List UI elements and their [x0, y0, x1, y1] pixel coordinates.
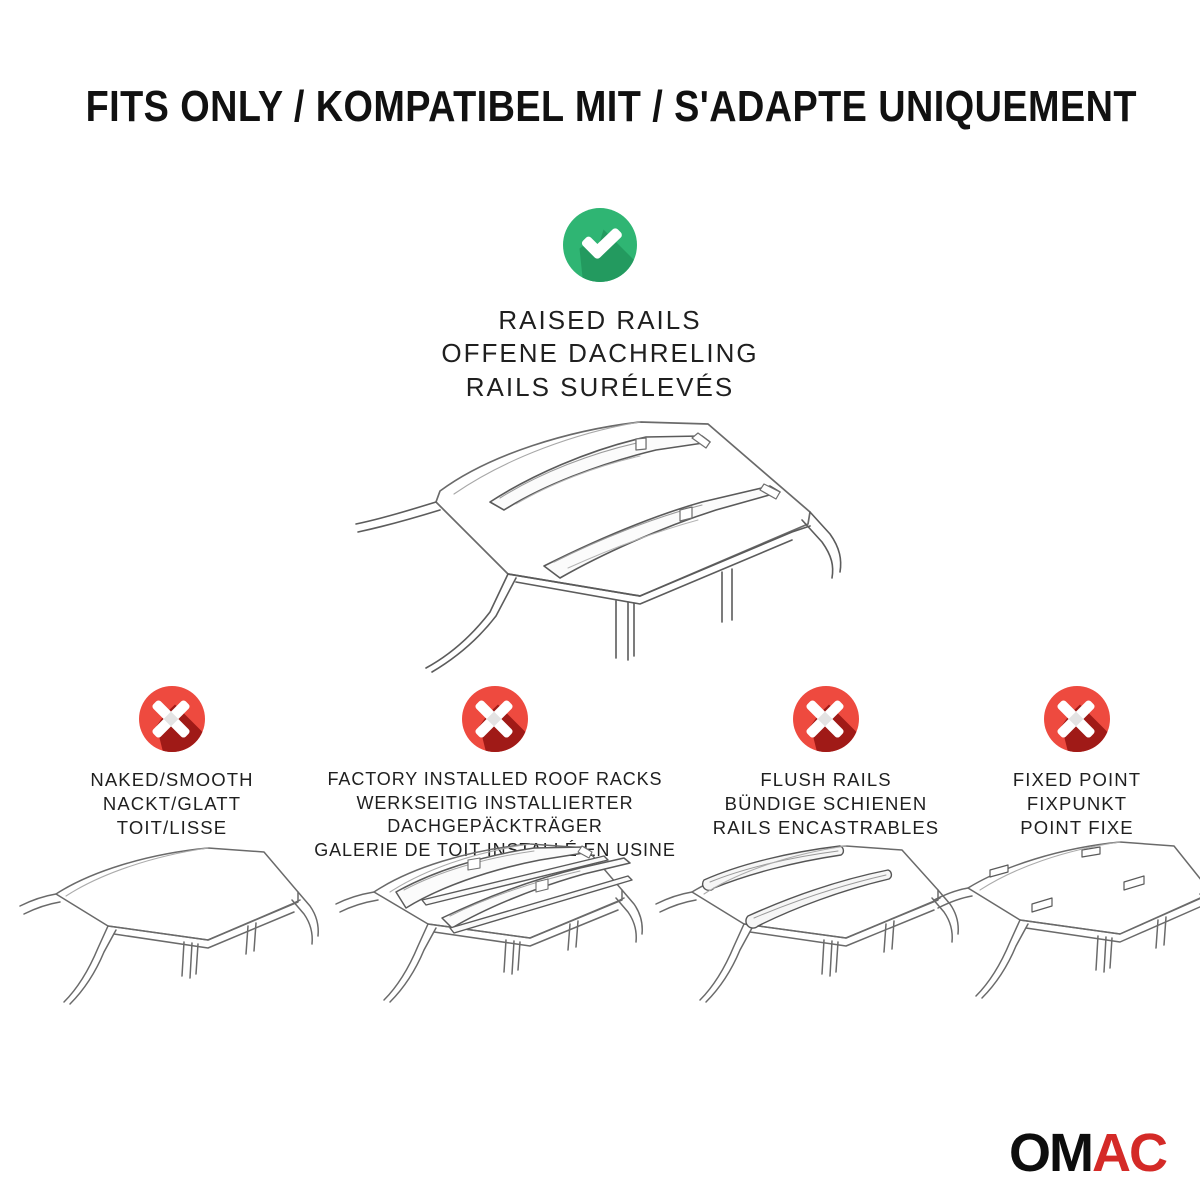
omac-logo-red-text: AC — [1092, 1126, 1166, 1180]
page-title: FITS ONLY / KOMPATIBEL MIT / S'ADAPTE UN… — [0, 82, 1200, 132]
car-roof-fixed-point-illustration — [928, 830, 1200, 1030]
compatible-section: RAISED RAILS OFFENE DACHRELING RAILS SUR… — [0, 208, 1200, 404]
incompatible-illustration-row — [0, 830, 1200, 1050]
incompatible-badge-wrap-1 — [300, 686, 690, 752]
car-roof-raised-rails-illustration — [340, 406, 860, 676]
incompatible-column-fixed-point: FIXED POINT FIXPUNKT POINT FIXE — [962, 686, 1192, 841]
omac-logo-dark-text: OM — [1009, 1126, 1092, 1180]
incompatible-badge-wrap-0 — [42, 686, 302, 752]
car-roof-naked-smooth-illustration — [12, 830, 324, 1030]
incompatible-badge-wrap-2 — [688, 686, 964, 752]
x-circle-icon — [793, 686, 859, 752]
compatible-caption: RAISED RAILS OFFENE DACHRELING RAILS SUR… — [0, 304, 1200, 404]
incompatible-caption-3-line-2: FIXPUNKT — [962, 792, 1192, 816]
x-circle-icon — [1044, 686, 1110, 752]
x-circle-icon — [462, 686, 528, 752]
car-roof-flush-rails-illustration — [648, 830, 964, 1030]
check-circle-icon — [563, 208, 637, 282]
compatible-caption-line-3: RAILS SURÉLEVÉS — [0, 371, 1200, 404]
omac-logo: OMAC — [1009, 1124, 1166, 1182]
compatible-caption-line-2: OFFENE DACHRELING — [0, 337, 1200, 370]
compatible-caption-line-1: RAISED RAILS — [0, 304, 1200, 337]
compatible-badge-wrap — [0, 208, 1200, 282]
incompatible-caption-1-line-1: FACTORY INSTALLED ROOF RACKS — [300, 768, 690, 792]
incompatible-caption-2-line-1: FLUSH RAILS — [688, 768, 964, 792]
incompatible-caption-2-line-2: BÜNDIGE SCHIENEN — [688, 792, 964, 816]
incompatible-caption-0-line-2: NACKT/GLATT — [42, 792, 302, 816]
x-circle-icon — [139, 686, 205, 752]
incompatible-caption-0-line-1: NAKED/SMOOTH — [42, 768, 302, 792]
incompatible-column-naked-smooth: NAKED/SMOOTH NACKT/GLATT TOIT/LISSE — [42, 686, 302, 841]
incompatible-caption-3-line-1: FIXED POINT — [962, 768, 1192, 792]
incompatible-column-flush-rails: FLUSH RAILS BÜNDIGE SCHIENEN RAILS ENCAS… — [688, 686, 964, 841]
page-title-text: FITS ONLY / KOMPATIBEL MIT / S'ADAPTE UN… — [86, 82, 1137, 132]
incompatible-badge-wrap-3 — [962, 686, 1192, 752]
incompatible-caption-1-line-2: WERKSEITIG INSTALLIERTER — [300, 792, 690, 816]
car-roof-factory-roof-rack-illustration — [318, 830, 662, 1030]
